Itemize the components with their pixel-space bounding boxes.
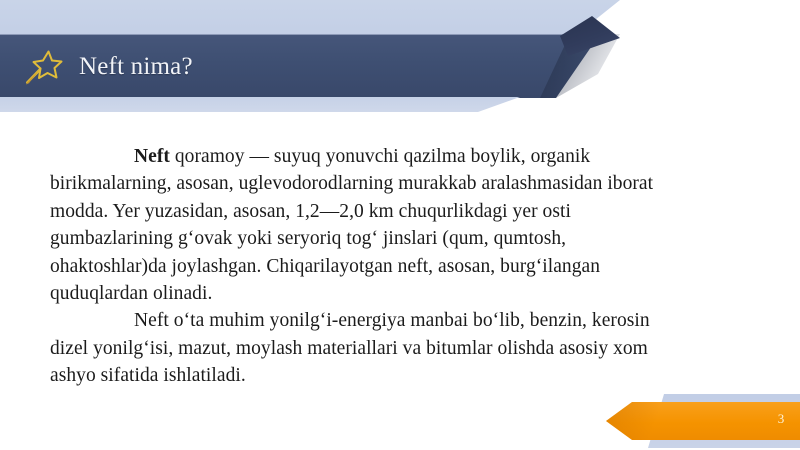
body-lead-word: Neft bbox=[134, 146, 170, 167]
slide-canvas: Neft nima? Neft qoramoy — suyuq yonuvchi… bbox=[0, 0, 800, 450]
pushpin-icon bbox=[20, 47, 66, 89]
slide-body: Neft qoramoy — suyuq yonuvchi qazilma bo… bbox=[50, 143, 670, 390]
slide-title: Neft nima? bbox=[79, 51, 193, 83]
body-paragraph-1: Neft qoramoy — suyuq yonuvchi qazilma bo… bbox=[50, 143, 670, 307]
header-band-bottom bbox=[0, 97, 520, 112]
body-paragraph-1-text: qoramoy — suyuq yonuvchi qazilma boylik,… bbox=[50, 146, 653, 304]
header-band-top bbox=[0, 0, 620, 36]
page-number: 3 bbox=[770, 410, 792, 428]
body-paragraph-2: Neft o‘ta muhim yonilg‘i-energiya manbai… bbox=[50, 307, 670, 389]
